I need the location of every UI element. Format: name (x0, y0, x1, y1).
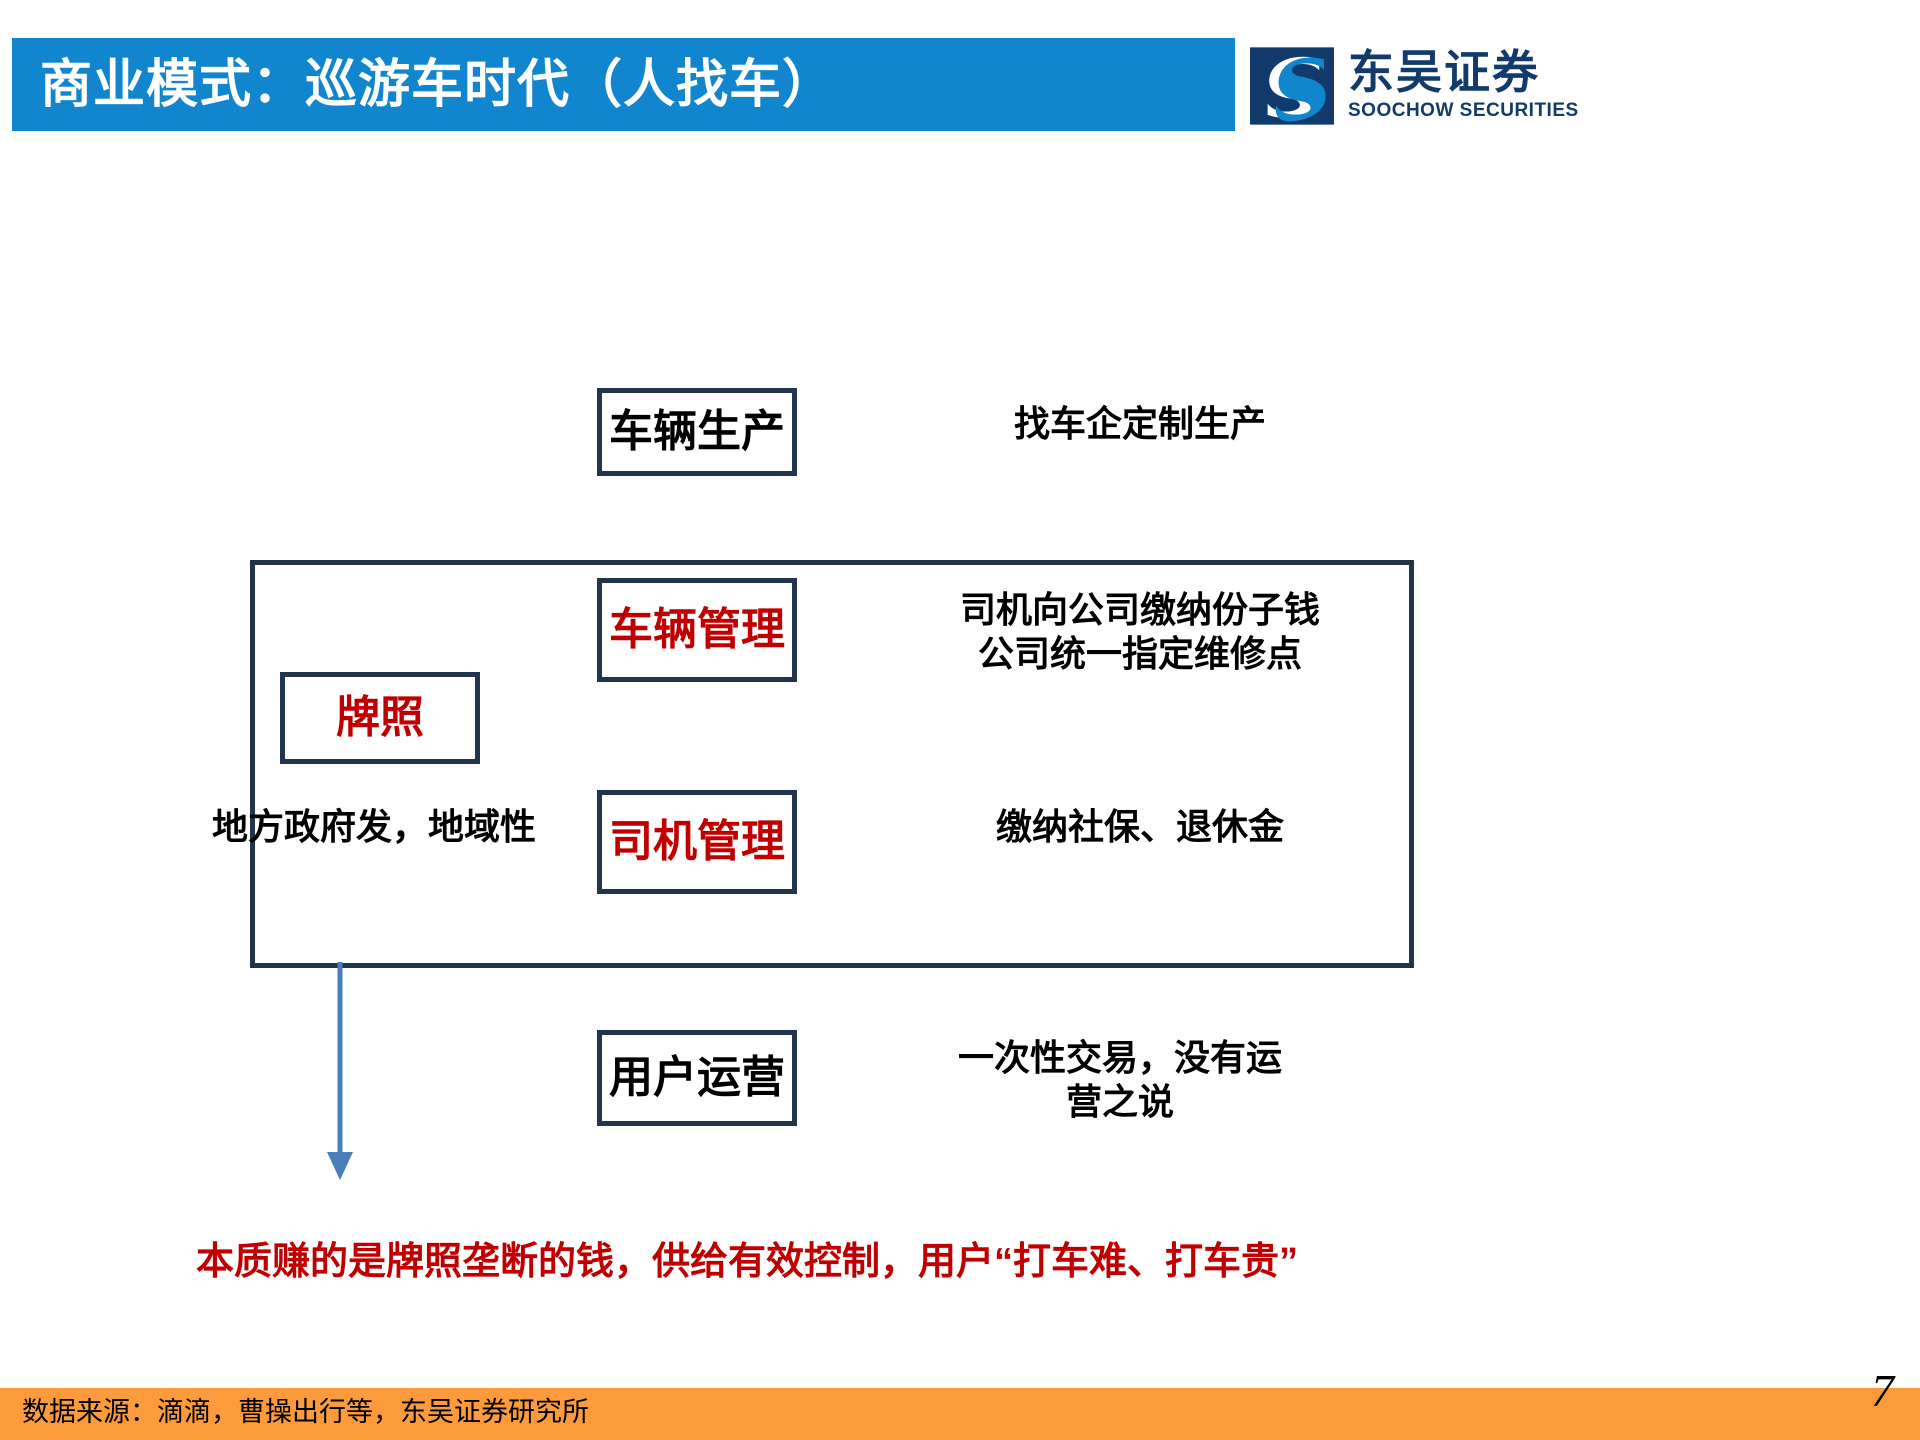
node-vehicle-management[interactable]: 车辆管理 (597, 578, 797, 682)
node-label: 车辆生产 (609, 410, 785, 454)
node-label: 牌照 (336, 696, 424, 740)
note-driver-management: 缴纳社保、退休金 (920, 805, 1360, 849)
node-label: 用户运营 (609, 1056, 785, 1100)
brand-logo: 东吴证券 SOOCHOW SECURITIES (1250, 38, 1550, 133)
note-user-operations: 一次性交易，没有运 营之说 (920, 1036, 1320, 1124)
node-label: 车辆管理 (609, 608, 785, 652)
note-license-plate: 地方政府发，地域性 (212, 805, 612, 849)
node-driver-management[interactable]: 司机管理 (597, 790, 797, 894)
page-number: 7 (1871, 1368, 1894, 1414)
node-vehicle-production[interactable]: 车辆生产 (597, 388, 797, 476)
node-license-plate[interactable]: 牌照 (280, 672, 480, 764)
logo-name-en: SOOCHOW SECURITIES (1348, 100, 1579, 123)
soochow-s-mark-icon (1250, 44, 1334, 128)
logo-text-block: 东吴证券 SOOCHOW SECURITIES (1348, 48, 1579, 122)
logo-name-cn: 东吴证券 (1348, 48, 1579, 96)
page-title: 商业模式：巡游车时代（人找车） (40, 59, 835, 111)
node-label: 司机管理 (609, 820, 785, 864)
note-vehicle-management: 司机向公司缴纳份子钱 公司统一指定维修点 (910, 588, 1370, 676)
flow-down-arrow-icon (320, 962, 360, 1182)
note-vehicle-production: 找车企定制生产 (930, 402, 1350, 446)
conclusion-text: 本质赚的是牌照垄断的钱，供给有效控制，用户“打车难、打车贵” (196, 1240, 1298, 1286)
header-bar: 商业模式：巡游车时代（人找车） (12, 38, 1235, 131)
node-user-operations[interactable]: 用户运营 (597, 1030, 797, 1126)
footer-source-text: 数据来源：滴滴，曹操出行等，东吴证券研究所 (22, 1394, 589, 1432)
slide-canvas: 商业模式：巡游车时代（人找车） 东吴证券 SOOCHOW SECURITIES … (0, 0, 1920, 1440)
